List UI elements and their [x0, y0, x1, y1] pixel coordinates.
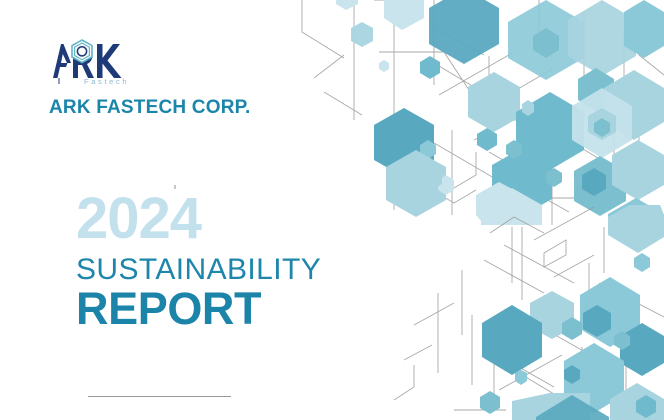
- cover-title-block: 2024 SUSTAINABILITY REPORT: [76, 190, 396, 332]
- logo-tagline-text: Fastech: [84, 77, 129, 86]
- logo-artwork: Fastech: [49, 36, 153, 88]
- bottom-divider-rule: [88, 396, 231, 397]
- hexagon-pattern-bottom-right-decoration: [394, 205, 664, 420]
- ark-fastech-logo: Fastech: [49, 36, 153, 88]
- company-name: ARK FASTECH CORP.: [49, 97, 251, 119]
- report-cover-page: Fastech ARK FASTECH CORP. 2024 SUSTAINAB…: [0, 0, 664, 420]
- report-year: 2024: [76, 190, 396, 248]
- report-title: REPORT: [76, 286, 396, 332]
- brand-logo-block: Fastech: [49, 36, 309, 88]
